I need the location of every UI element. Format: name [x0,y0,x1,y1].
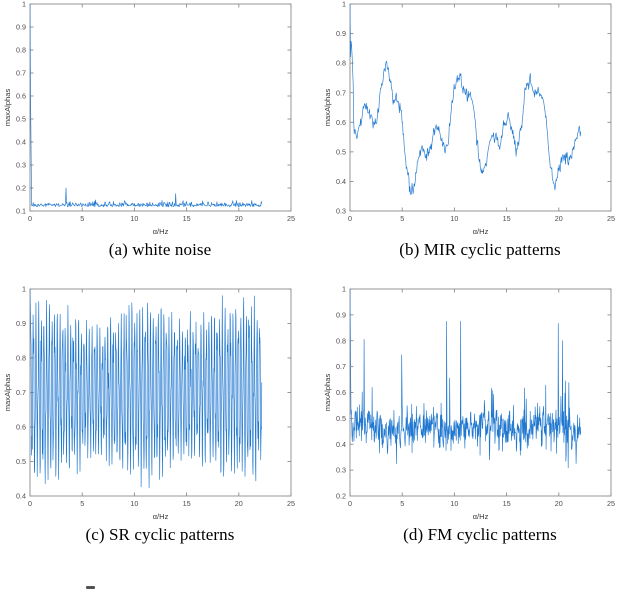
subplot-panel-a: 05101520250.10.20.30.40.50.60.70.80.91α/… [0,0,320,285]
y-tick-label: 0.7 [336,362,346,371]
caption-b: (b) MIR cyclic patterns [320,240,640,260]
y-tick-label: 0.5 [336,414,346,423]
y-tick-label: 0.5 [16,457,26,466]
x-tick-label: 0 [348,499,352,508]
y-tick-label: 0.9 [16,319,26,328]
y-tick-label: 0.2 [16,184,26,193]
plot-area-c: 05101520250.40.50.60.70.80.91α/HzmaxAlph… [0,285,320,525]
caption-a: (a) white noise [0,240,320,260]
subplot-panel-b: 05101520250.30.40.50.60.70.80.91α/HzmaxA… [320,0,640,285]
y-tick-label: 0.7 [16,69,26,78]
y-tick-label: 0.3 [16,161,26,170]
y-tick-label: 0.8 [336,336,346,345]
y-tick-label: 0.2 [336,492,346,501]
y-tick-label: 0.4 [16,138,26,147]
figure-container: 05101520250.10.20.30.40.50.60.70.80.91α/… [0,0,640,595]
y-tick-label: 0.9 [16,23,26,32]
x-tick-label: 15 [503,214,511,223]
y-tick-label: 0.9 [336,29,346,38]
x-tick-label: 5 [400,499,404,508]
y-tick-label: 1 [22,0,26,9]
x-tick-label: 10 [450,214,458,223]
x-tick-label: 20 [235,214,243,223]
plot-area-d: 05101520250.20.30.40.50.60.70.80.91α/Hzm… [320,285,640,525]
y-tick-label: 0.3 [336,207,346,216]
plot-area-b: 05101520250.30.40.50.60.70.80.91α/HzmaxA… [320,0,640,240]
x-axis-label: α/Hz [153,512,169,521]
plot-area-a: 05101520250.10.20.30.40.50.60.70.80.91α/… [0,0,320,240]
x-tick-label: 15 [183,214,191,223]
y-tick-label: 0.7 [16,388,26,397]
x-tick-label: 15 [503,499,511,508]
x-tick-label: 20 [555,499,563,508]
y-tick-label: 0.5 [16,115,26,124]
x-tick-label: 10 [130,214,138,223]
y-tick-label: 0.8 [16,354,26,363]
plot-svg-b: 05101520250.30.40.50.60.70.80.91α/HzmaxA… [320,0,640,240]
x-tick-label: 25 [607,499,615,508]
caption-c: (c) SR cyclic patterns [0,525,320,545]
x-tick-label: 20 [555,214,563,223]
x-tick-label: 15 [183,499,191,508]
y-axis-label: maxAlphas [323,89,332,127]
caption-d: (d) FM cyclic patterns [320,525,640,545]
y-tick-label: 0.8 [336,59,346,68]
y-tick-label: 0.9 [336,310,346,319]
x-tick-label: 25 [607,214,615,223]
y-tick-label: 0.4 [16,492,26,501]
x-tick-label: 0 [28,214,32,223]
x-tick-label: 25 [287,499,295,508]
x-tick-label: 5 [400,214,404,223]
y-tick-label: 0.6 [336,118,346,127]
x-tick-label: 0 [348,214,352,223]
x-tick-label: 25 [287,214,295,223]
y-tick-label: 1 [342,285,346,294]
y-tick-label: 0.4 [336,440,346,449]
y-tick-label: 0.1 [16,207,26,216]
y-tick-label: 0.6 [16,423,26,432]
plot-svg-a: 05101520250.10.20.30.40.50.60.70.80.91α/… [0,0,320,240]
y-tick-label: 0.6 [336,388,346,397]
x-tick-label: 10 [450,499,458,508]
y-tick-label: 1 [342,0,346,9]
x-tick-label: 10 [130,499,138,508]
subplot-panel-c: 05101520250.40.50.60.70.80.91α/HzmaxAlph… [0,285,320,570]
page-artifact-mark [86,586,95,589]
plot-svg-d: 05101520250.20.30.40.50.60.70.80.91α/Hzm… [320,285,640,525]
x-axis-label: α/Hz [153,227,169,236]
y-tick-label: 0.8 [16,46,26,55]
y-axis-label: maxAlphas [3,374,12,412]
x-tick-label: 20 [235,499,243,508]
x-tick-label: 5 [80,499,84,508]
x-axis-label: α/Hz [473,227,489,236]
subplot-panel-d: 05101520250.20.30.40.50.60.70.80.91α/Hzm… [320,285,640,570]
y-tick-label: 1 [22,285,26,294]
y-tick-label: 0.7 [336,88,346,97]
x-tick-label: 5 [80,214,84,223]
x-axis-label: α/Hz [473,512,489,521]
y-axis-label: maxAlphas [323,374,332,412]
y-tick-label: 0.3 [336,466,346,475]
y-axis-label: maxAlphas [3,89,12,127]
plot-svg-c: 05101520250.40.50.60.70.80.91α/HzmaxAlph… [0,285,320,525]
x-tick-label: 0 [28,499,32,508]
y-tick-label: 0.6 [16,92,26,101]
y-tick-label: 0.5 [336,147,346,156]
y-tick-label: 0.4 [336,177,346,186]
